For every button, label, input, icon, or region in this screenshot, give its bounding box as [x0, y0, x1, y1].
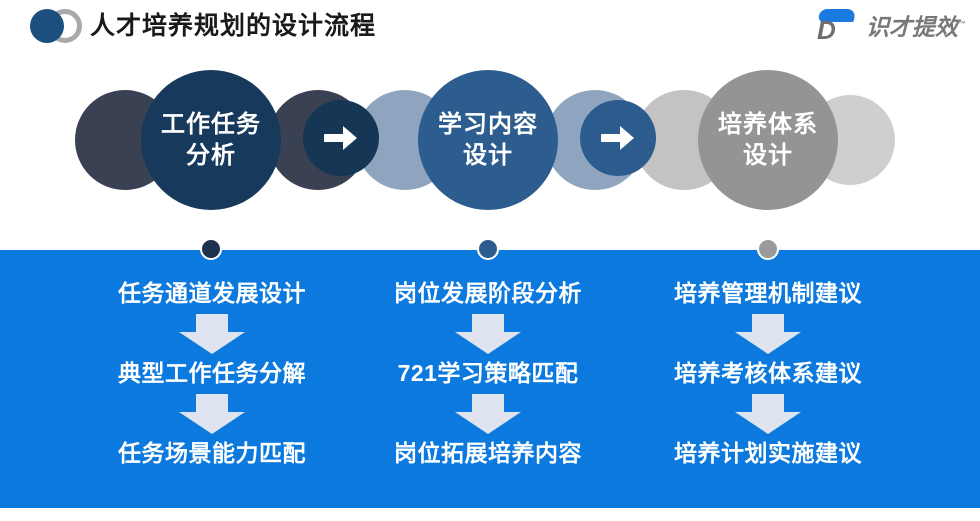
arrow-down-icon [735, 314, 801, 354]
logo-disc-shape [30, 9, 64, 43]
slide-header: 人才培养规划的设计流程 D 识才提效™ [0, 0, 980, 56]
flow-stage-1-label: 工作任务 分析 [161, 109, 261, 171]
flow-stage-circle-2[interactable]: 学习内容 设计 [418, 70, 558, 210]
steps-column-1: 任务通道发展设计 典型工作任务分解 任务场景能力匹配 [72, 278, 352, 468]
arrow-down-icon [179, 314, 245, 354]
overlapping-circles-logo-icon [24, 6, 86, 48]
arrow-down-icon [735, 394, 801, 434]
logo-letter: D [817, 18, 836, 42]
step-label: 典型工作任务分解 [72, 358, 352, 388]
step-label: 任务通道发展设计 [72, 278, 352, 308]
arrow-body-shape [472, 394, 504, 413]
flow-stage-1-label-line2: 分析 [161, 140, 261, 171]
arrow-head-shape [343, 126, 357, 150]
arrow-shaft-shape [601, 134, 622, 142]
flow-arrow-circle-1 [303, 100, 379, 176]
arrow-head-shape [455, 412, 521, 434]
flow-arrow-circle-2 [580, 100, 656, 176]
flow-stage-3-label-line2: 设计 [718, 140, 818, 171]
flow-stage-circle-1[interactable]: 工作任务 分析 [141, 70, 281, 210]
flow-stage-2-label-line1: 学习内容 [438, 109, 538, 140]
step-label: 岗位发展阶段分析 [348, 278, 628, 308]
arrow-down-icon [455, 394, 521, 434]
step-label: 任务场景能力匹配 [72, 438, 352, 468]
arrow-down-icon [455, 314, 521, 354]
step-label: 培养计划实施建议 [628, 438, 908, 468]
arrow-right-icon [601, 123, 635, 153]
arrow-head-shape [455, 332, 521, 354]
trademark-mark: ™ [958, 19, 966, 28]
arrow-right-icon [324, 123, 358, 153]
connector-dot-2 [477, 238, 499, 260]
flow-stage-3-label-line1: 培养体系 [718, 109, 818, 140]
arrow-head-shape [735, 332, 801, 354]
corporate-wordmark: 识才提效™ [866, 8, 966, 42]
flow-stage-3-label: 培养体系 设计 [718, 109, 818, 171]
arrow-body-shape [196, 314, 228, 333]
bottom-white-strip [0, 508, 980, 521]
steps-column-2: 岗位发展阶段分析 721学习策略匹配 岗位拓展培养内容 [348, 278, 628, 468]
arrow-head-shape [620, 126, 634, 150]
flow-stage-circle-3[interactable]: 培养体系 设计 [698, 70, 838, 210]
slide-canvas: 人才培养规划的设计流程 D 识才提效™ 工作任务 分析 [0, 0, 980, 521]
flow-stage-1-label-line1: 工作任务 [161, 109, 261, 140]
arrow-down-icon [179, 394, 245, 434]
arrow-body-shape [752, 394, 784, 413]
d-swoosh-logo-icon: D [815, 8, 859, 42]
arrow-head-shape [179, 332, 245, 354]
corporate-wordmark-text: 识才提效 [866, 14, 958, 40]
connector-dot-1 [200, 238, 222, 260]
step-label: 培养管理机制建议 [628, 278, 908, 308]
steps-column-3: 培养管理机制建议 培养考核体系建议 培养计划实施建议 [628, 278, 908, 468]
corporate-logo: D 识才提效™ [815, 7, 966, 43]
arrow-body-shape [752, 314, 784, 333]
steps-panel: 任务通道发展设计 典型工作任务分解 任务场景能力匹配 岗位发展阶段分析 721学… [0, 250, 980, 508]
arrow-body-shape [472, 314, 504, 333]
step-label: 培养考核体系建议 [628, 358, 908, 388]
flow-circle-band: 工作任务 分析 学习内容 设计 [0, 56, 980, 250]
arrow-head-shape [735, 412, 801, 434]
page-title: 人才培养规划的设计流程 [90, 8, 376, 44]
connector-dot-3 [757, 238, 779, 260]
flow-stage-2-label: 学习内容 设计 [438, 109, 538, 171]
step-label: 岗位拓展培养内容 [348, 438, 628, 468]
step-label: 721学习策略匹配 [348, 358, 628, 388]
arrow-body-shape [196, 394, 228, 413]
arrow-head-shape [179, 412, 245, 434]
flow-stage-2-label-line2: 设计 [438, 140, 538, 171]
arrow-shaft-shape [324, 134, 345, 142]
